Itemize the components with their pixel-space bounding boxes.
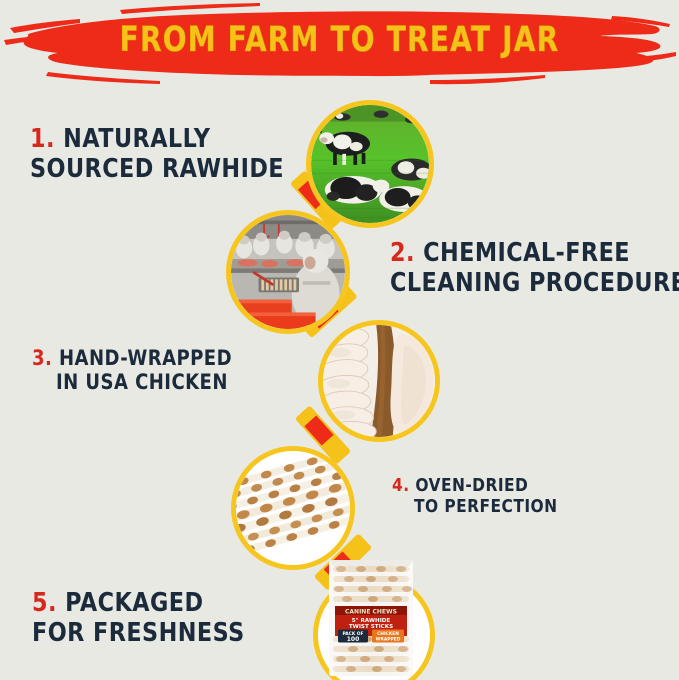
svg-text:WRAPPED: WRAPPED bbox=[376, 637, 401, 643]
step-4-text: 4. OVEN-DRIED TO PERFECTION bbox=[392, 476, 581, 518]
step-3-number: 3. bbox=[32, 346, 52, 370]
step-5-line1: 5. PACKAGED bbox=[32, 588, 245, 618]
step-4-label1: OVEN-DRIED bbox=[415, 475, 528, 496]
step-1-text: 1. NATURALLY SOURCED RAWHIDE bbox=[30, 124, 325, 184]
step-2-line2: CLEANING PROCEDURE bbox=[390, 268, 679, 298]
step-5-label1: PACKAGED bbox=[65, 588, 203, 618]
step-5-number: 5. bbox=[32, 588, 57, 618]
product-package-photo: CANINE CHEWS 5" RAWHIDE TWIST STICKS PAC… bbox=[325, 556, 417, 680]
step-4-line2: TO PERFECTION bbox=[414, 497, 557, 518]
processing-facility-photo bbox=[231, 215, 345, 329]
step-1-line1: 1. NATURALLY bbox=[30, 124, 284, 154]
step-3-text: 3. HAND-WRAPPED IN USA CHICKEN bbox=[32, 346, 265, 395]
infographic-root: FROM FARM TO TREAT JAR bbox=[0, 0, 679, 680]
step-1-label1: NATURALLY bbox=[63, 124, 210, 154]
step-1-line2: SOURCED RAWHIDE bbox=[30, 154, 284, 184]
step-3-label1: HAND-WRAPPED bbox=[59, 346, 232, 370]
package-brand-text: CANINE CHEWS bbox=[345, 608, 397, 615]
sliced-chicken-breast-photo bbox=[323, 325, 435, 437]
step-3-line1: 3. HAND-WRAPPED bbox=[32, 346, 232, 370]
header-banner: FROM FARM TO TREAT JAR bbox=[0, 0, 679, 92]
step-4-image-circle bbox=[231, 446, 355, 570]
page-title: FROM FARM TO TREAT JAR bbox=[68, 20, 611, 60]
package-product-line2: TWIST STICKS bbox=[349, 624, 393, 630]
step-1-number: 1. bbox=[30, 124, 55, 154]
step-3-line2: IN USA CHICKEN bbox=[56, 370, 235, 394]
step-2-number: 2. bbox=[390, 238, 415, 268]
step-2-image-circle bbox=[226, 210, 350, 334]
svg-text:100: 100 bbox=[347, 636, 360, 643]
step-2-line1: 2. CHEMICAL-FREE bbox=[390, 238, 679, 268]
svg-text:CHICKEN: CHICKEN bbox=[377, 631, 399, 637]
rawhide-twist-sticks-photo bbox=[236, 451, 350, 565]
step-4-line1: 4. OVEN-DRIED bbox=[392, 476, 554, 497]
cows-in-pasture-photo bbox=[311, 105, 429, 223]
product-package: CANINE CHEWS 5" RAWHIDE TWIST STICKS PAC… bbox=[325, 556, 417, 680]
step-5-text: 5. PACKAGED FOR FRESHNESS bbox=[32, 588, 279, 648]
step-4-number: 4. bbox=[392, 475, 410, 496]
step-2-label1: CHEMICAL-FREE bbox=[423, 238, 630, 268]
step-5-line2: FOR FRESHNESS bbox=[32, 618, 245, 648]
step-2-text: 2. CHEMICAL-FREE CLEANING PROCEDURE bbox=[390, 238, 679, 298]
step-3-image-circle bbox=[318, 320, 440, 442]
